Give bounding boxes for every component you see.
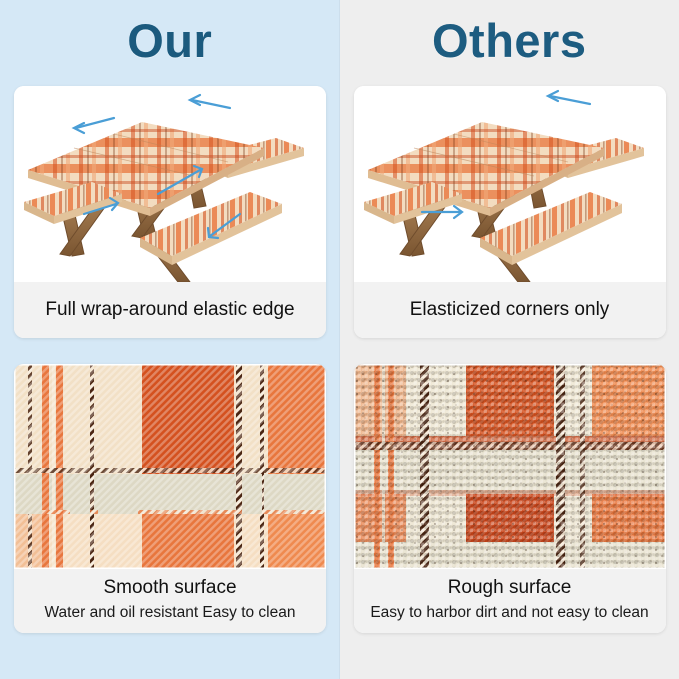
media-our-fabric — [14, 364, 326, 569]
caption-others-fabric: Rough surface Easy to harbor dirt and no… — [354, 569, 666, 633]
media-others-table — [354, 86, 666, 282]
fabric-swatch-rough — [354, 364, 666, 569]
column-divider — [339, 0, 340, 679]
comparison-infographic: Our — [0, 0, 679, 679]
caption-text: Full wrap-around elastic edge — [14, 297, 326, 323]
caption-subtitle: Water and oil resistant Easy to clean — [14, 601, 326, 625]
picnic-table-illustration-others — [354, 86, 666, 282]
fabric-swatch-smooth — [14, 364, 326, 569]
caption-our-table: Full wrap-around elastic edge — [14, 282, 326, 338]
bench-left — [364, 182, 462, 224]
page-title-our: Our — [0, 10, 340, 72]
card-others-fabric: Rough surface Easy to harbor dirt and no… — [354, 364, 666, 633]
media-our-table — [14, 86, 326, 282]
caption-our-fabric: Smooth surface Water and oil resistant E… — [14, 569, 326, 633]
arrow-top-right — [190, 95, 230, 108]
card-others-table: Elasticized corners only — [354, 86, 666, 338]
caption-text: Elasticized corners only — [354, 297, 666, 323]
caption-subtitle: Easy to harbor dirt and not easy to clea… — [354, 601, 666, 625]
card-our-fabric: Smooth surface Water and oil resistant E… — [14, 364, 326, 633]
column-our: Our — [0, 0, 340, 679]
caption-title: Smooth surface — [14, 575, 326, 601]
card-our-table: Full wrap-around elastic edge — [14, 86, 326, 338]
page-title-others: Others — [340, 10, 679, 72]
media-others-fabric — [354, 364, 666, 569]
caption-title: Rough surface — [354, 575, 666, 601]
bench-left — [24, 182, 122, 224]
caption-others-table: Elasticized corners only — [354, 282, 666, 338]
column-others: Others — [340, 0, 679, 679]
picnic-table-illustration-our — [14, 86, 326, 282]
arrow-top-left — [74, 118, 114, 133]
arrow-top-right — [548, 91, 590, 104]
